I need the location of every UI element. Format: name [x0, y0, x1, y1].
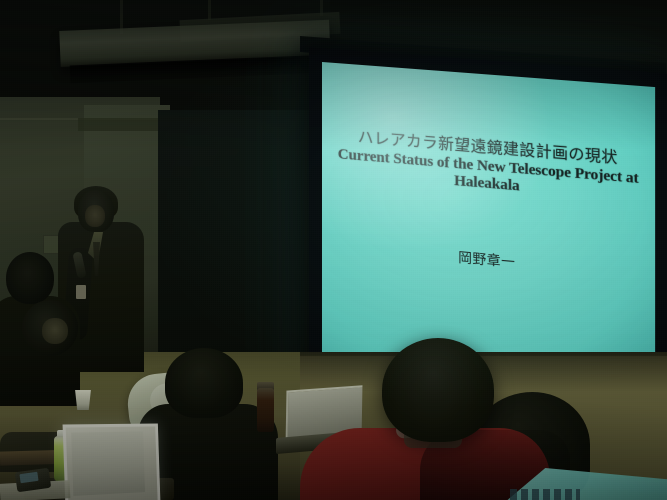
thermos-bottle	[257, 388, 274, 432]
audience-left-head	[6, 252, 54, 304]
ceiling-rail	[208, 0, 211, 20]
speaker-face	[85, 205, 105, 227]
audience-left-front-face	[42, 318, 68, 344]
audience-red-jacket-head	[382, 338, 494, 442]
printed-handout-text	[510, 489, 580, 500]
speaker-name-badge	[76, 285, 86, 299]
audience-center-head	[165, 348, 243, 418]
photo-scene: ハレアカラ新望遠鏡建設計画の現状 Current Status of the N…	[0, 0, 667, 500]
wall-vent	[78, 118, 160, 131]
slide-author-name: 岡野章一	[322, 234, 655, 283]
wall-switch-plate	[43, 235, 59, 254]
blackboard	[158, 110, 330, 360]
left-laptop-screen	[71, 431, 145, 496]
